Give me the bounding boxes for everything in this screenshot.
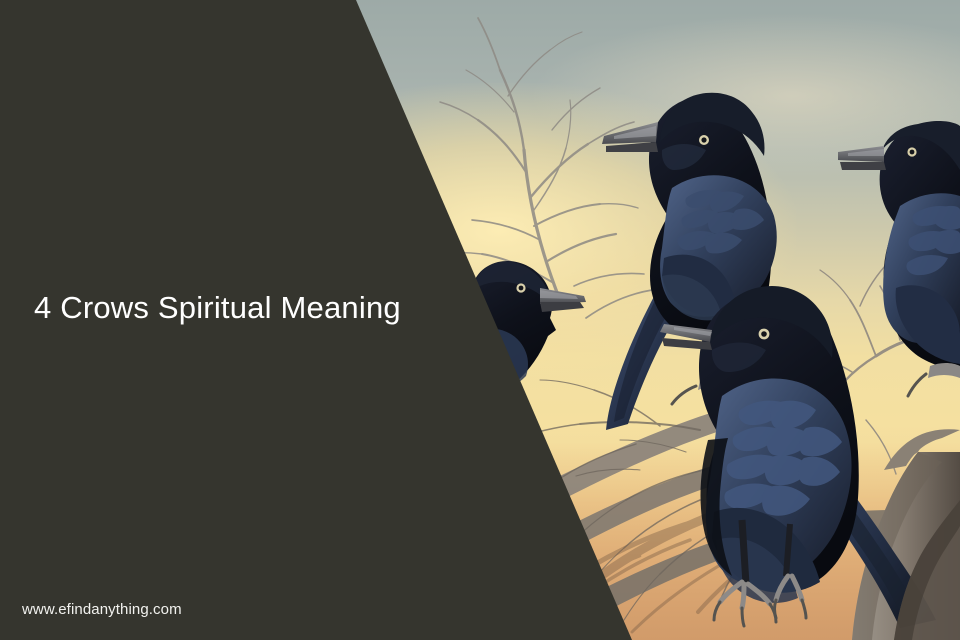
banner: 4 Crows Spiritual Meaning www.efindanyth…	[0, 0, 960, 640]
page-title: 4 Crows Spiritual Meaning	[34, 289, 434, 328]
site-url: www.efindanything.com	[22, 601, 182, 618]
